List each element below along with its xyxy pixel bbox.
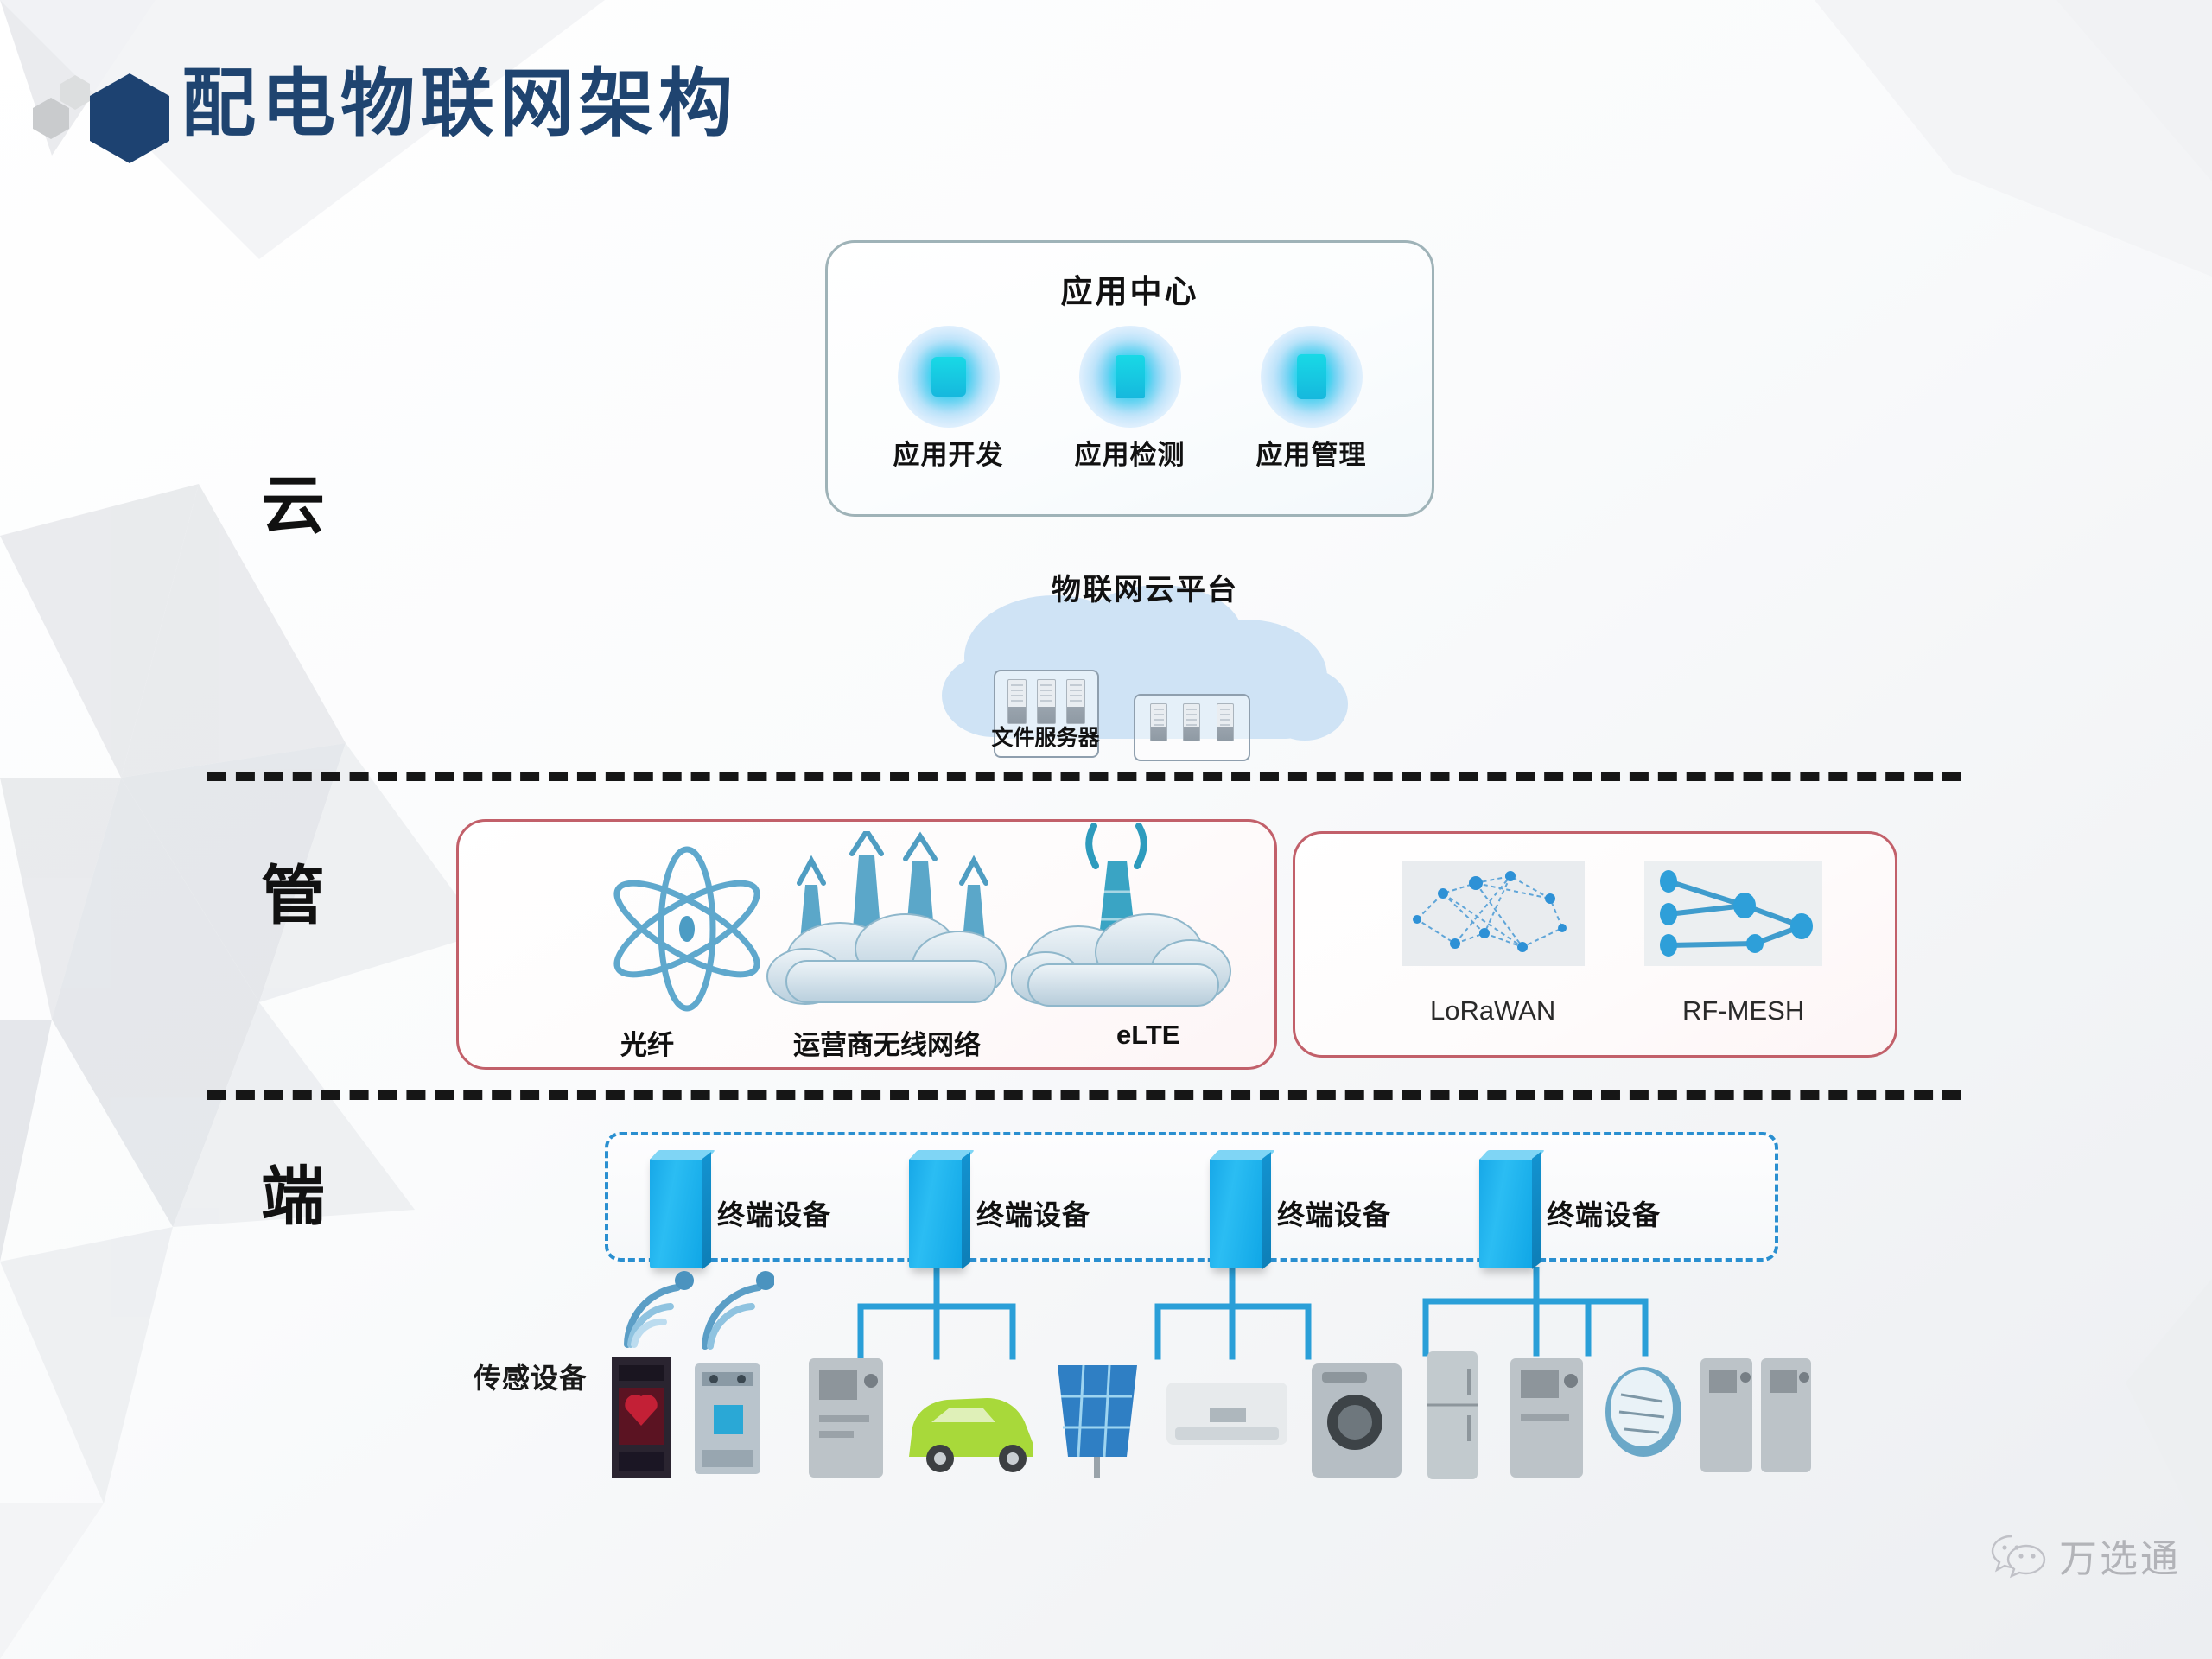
- terminal-device-4-label: 终端设备: [1547, 1193, 1661, 1233]
- wechat-icon: [1990, 1531, 2047, 1580]
- terminal-device-2-label: 终端设备: [976, 1193, 1090, 1233]
- caption-elte: eLTE: [1116, 1020, 1180, 1051]
- application-center-title: 应用中心: [828, 265, 1432, 312]
- app-testing-glyph: [1116, 355, 1145, 398]
- app-development-glyph: [931, 357, 966, 397]
- terminal-device-2[interactable]: 终端设备: [909, 1158, 1090, 1268]
- data-server-rack: [1134, 694, 1250, 761]
- terminal-device-box-icon: [909, 1158, 963, 1268]
- hexagon-small-a-icon: [33, 98, 69, 139]
- layer-label-end: 端: [261, 1165, 325, 1229]
- app-item-testing-label: 应用检测: [1058, 433, 1202, 472]
- elte-tower-cloud-icon: [1011, 823, 1236, 1021]
- caption-carrier: 运营商无线网络: [793, 1023, 981, 1062]
- divider-pipe-end: [207, 1090, 1961, 1100]
- terminal-device-3-label: 终端设备: [1277, 1193, 1391, 1233]
- terminal-device-1[interactable]: 终端设备: [650, 1158, 831, 1268]
- caption-rf-mesh: RF-MESH: [1682, 995, 1804, 1027]
- solar-panel-icon: [1058, 1365, 1137, 1478]
- application-center-panel: 应用中心 应用开发 应用检测 应用管理: [825, 240, 1434, 517]
- app-item-management[interactable]: 应用管理: [1240, 326, 1383, 472]
- terminal-device-3[interactable]: 终端设备: [1210, 1158, 1391, 1268]
- water-meter-icon: [1605, 1367, 1681, 1457]
- file-server-label: 文件服务器: [985, 727, 1106, 749]
- lorawan-mesh-icon: [1402, 861, 1585, 966]
- app-item-management-label: 应用管理: [1240, 433, 1383, 472]
- server-unit: [1007, 679, 1027, 724]
- hexagon-logo-cluster: [19, 30, 175, 177]
- caption-lorawan: LoRaWAN: [1430, 995, 1555, 1027]
- app-management-icon: [1261, 326, 1363, 428]
- app-item-testing[interactable]: 应用检测: [1058, 326, 1202, 472]
- layer-label-pipe: 管: [261, 864, 325, 928]
- layer-label-cloud: 云: [261, 474, 325, 537]
- electric-meter-icon: [1761, 1358, 1811, 1472]
- page-header: 配电物联网架构: [0, 0, 2212, 207]
- divider-cloud-pipe: [207, 772, 1961, 781]
- caption-fiber: 光纤: [620, 1023, 674, 1062]
- watermark-text: 万选通: [2059, 1528, 2181, 1583]
- application-center-items: 应用开发 应用检测 应用管理: [828, 326, 1432, 472]
- fiber-atom-icon: [605, 842, 769, 1015]
- server-unit: [1183, 703, 1200, 741]
- server-unit: [1217, 703, 1234, 741]
- terminal-device-box-icon: [1210, 1158, 1263, 1268]
- terminal-device-1-label: 终端设备: [717, 1193, 831, 1233]
- server-unit: [1066, 679, 1085, 724]
- electric-meter-icon: [1700, 1358, 1752, 1472]
- electric-meter-icon: [1510, 1358, 1583, 1478]
- app-item-development[interactable]: 应用开发: [877, 326, 1020, 472]
- hexagon-small-b-icon: [60, 75, 90, 110]
- washing-machine-icon: [1312, 1363, 1402, 1478]
- server-unit: [1150, 703, 1167, 741]
- hexagon-main-icon: [90, 73, 169, 163]
- app-management-glyph: [1297, 354, 1326, 399]
- display-panel-icon: [612, 1357, 671, 1478]
- terminal-device-4[interactable]: 终端设备: [1479, 1158, 1661, 1268]
- server-unit: [1037, 679, 1056, 724]
- iot-cloud-title: 物联网云平台: [942, 566, 1348, 608]
- terminal-device-box-icon: [1479, 1158, 1533, 1268]
- carrier-wireless-cloud-icon: [760, 831, 1020, 1021]
- terminal-device-box-icon: [650, 1158, 703, 1268]
- app-development-icon: [898, 326, 1000, 428]
- refrigerator-icon: [1427, 1351, 1478, 1479]
- app-item-development-label: 应用开发: [877, 433, 1020, 472]
- rf-mesh-icon: [1644, 861, 1822, 966]
- air-conditioner-icon: [1166, 1382, 1287, 1445]
- sensor-devices-label: 传感设备: [474, 1357, 588, 1396]
- wireless-signal-icon: [610, 1268, 774, 1355]
- watermark: 万选通: [1990, 1528, 2181, 1583]
- app-testing-icon: [1079, 326, 1181, 428]
- sensor-devices-row: [605, 1348, 1815, 1486]
- electric-meter-icon: [809, 1358, 883, 1478]
- circuit-breaker-icon: [695, 1363, 760, 1474]
- electric-vehicle-icon: [909, 1398, 1033, 1472]
- page-title: 配电物联网架构: [181, 67, 738, 141]
- iot-cloud-platform: 物联网云平台 文件服务器: [942, 566, 1348, 765]
